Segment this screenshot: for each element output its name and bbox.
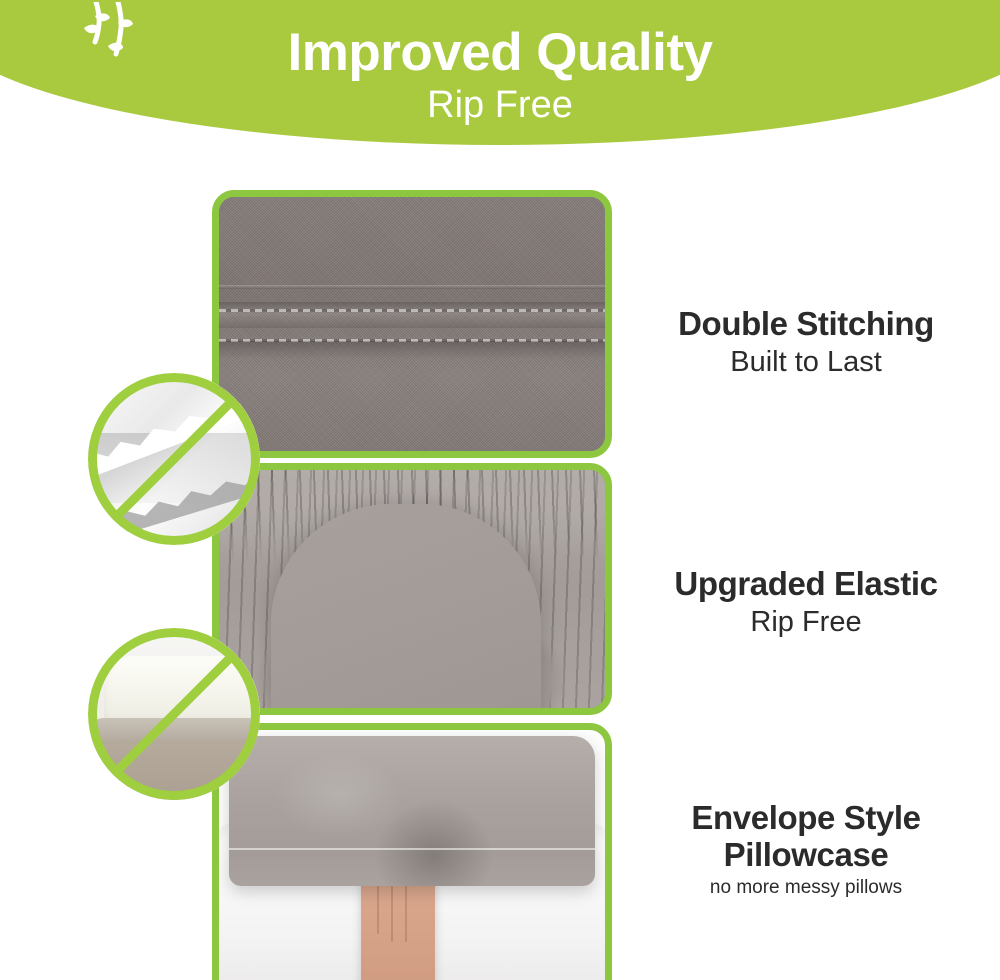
fitted-sheet-corner xyxy=(271,504,541,715)
badge-no-messy-pillow xyxy=(88,628,260,800)
feature-title-line-1: Envelope Style xyxy=(620,800,992,837)
feature-upgraded-elastic: Upgraded Elastic Rip Free xyxy=(620,566,992,640)
feature-envelope-pillowcase: Envelope Style Pillowcase no more messy … xyxy=(620,800,992,900)
fabric-fold-shadow xyxy=(219,341,605,359)
panel-upgraded-elastic xyxy=(212,463,612,715)
feature-note: no more messy pillows xyxy=(620,877,992,900)
pillowcase-drape-shading xyxy=(229,736,595,886)
feature-subtitle: Built to Last xyxy=(620,345,992,380)
feature-title: Upgraded Elastic xyxy=(620,566,992,603)
photo-envelope-pillowcase xyxy=(219,730,605,980)
photo-ripped-fabric xyxy=(88,373,260,545)
photo-double-stitching xyxy=(219,197,605,451)
feature-title-line-2: Pillowcase xyxy=(620,837,992,874)
page-title: Improved Quality xyxy=(0,26,1000,79)
feature-subtitle: Rip Free xyxy=(620,605,992,640)
photo-messy-pillow xyxy=(88,628,260,800)
header-banner-content: Improved Quality Rip Free xyxy=(0,0,1000,145)
pillowcase-opening-band xyxy=(92,718,260,740)
panel-double-stitching xyxy=(212,190,612,458)
fabric-seam-band xyxy=(219,302,605,328)
feature-title: Double Stitching xyxy=(620,306,992,343)
header-banner: Improved Quality Rip Free xyxy=(0,0,1000,145)
pillowcase-hem xyxy=(229,848,595,850)
panel-envelope-pillowcase xyxy=(212,723,612,980)
fabric-seam-upper xyxy=(219,285,605,289)
page-subtitle: Rip Free xyxy=(0,86,1000,124)
photo-upgraded-elastic xyxy=(219,470,605,708)
infographic-page: Improved Quality Rip Free xyxy=(0,0,1000,980)
feature-double-stitching: Double Stitching Built to Last xyxy=(620,306,992,380)
badge-no-rip xyxy=(88,373,260,545)
stitch-row-1 xyxy=(219,309,605,312)
